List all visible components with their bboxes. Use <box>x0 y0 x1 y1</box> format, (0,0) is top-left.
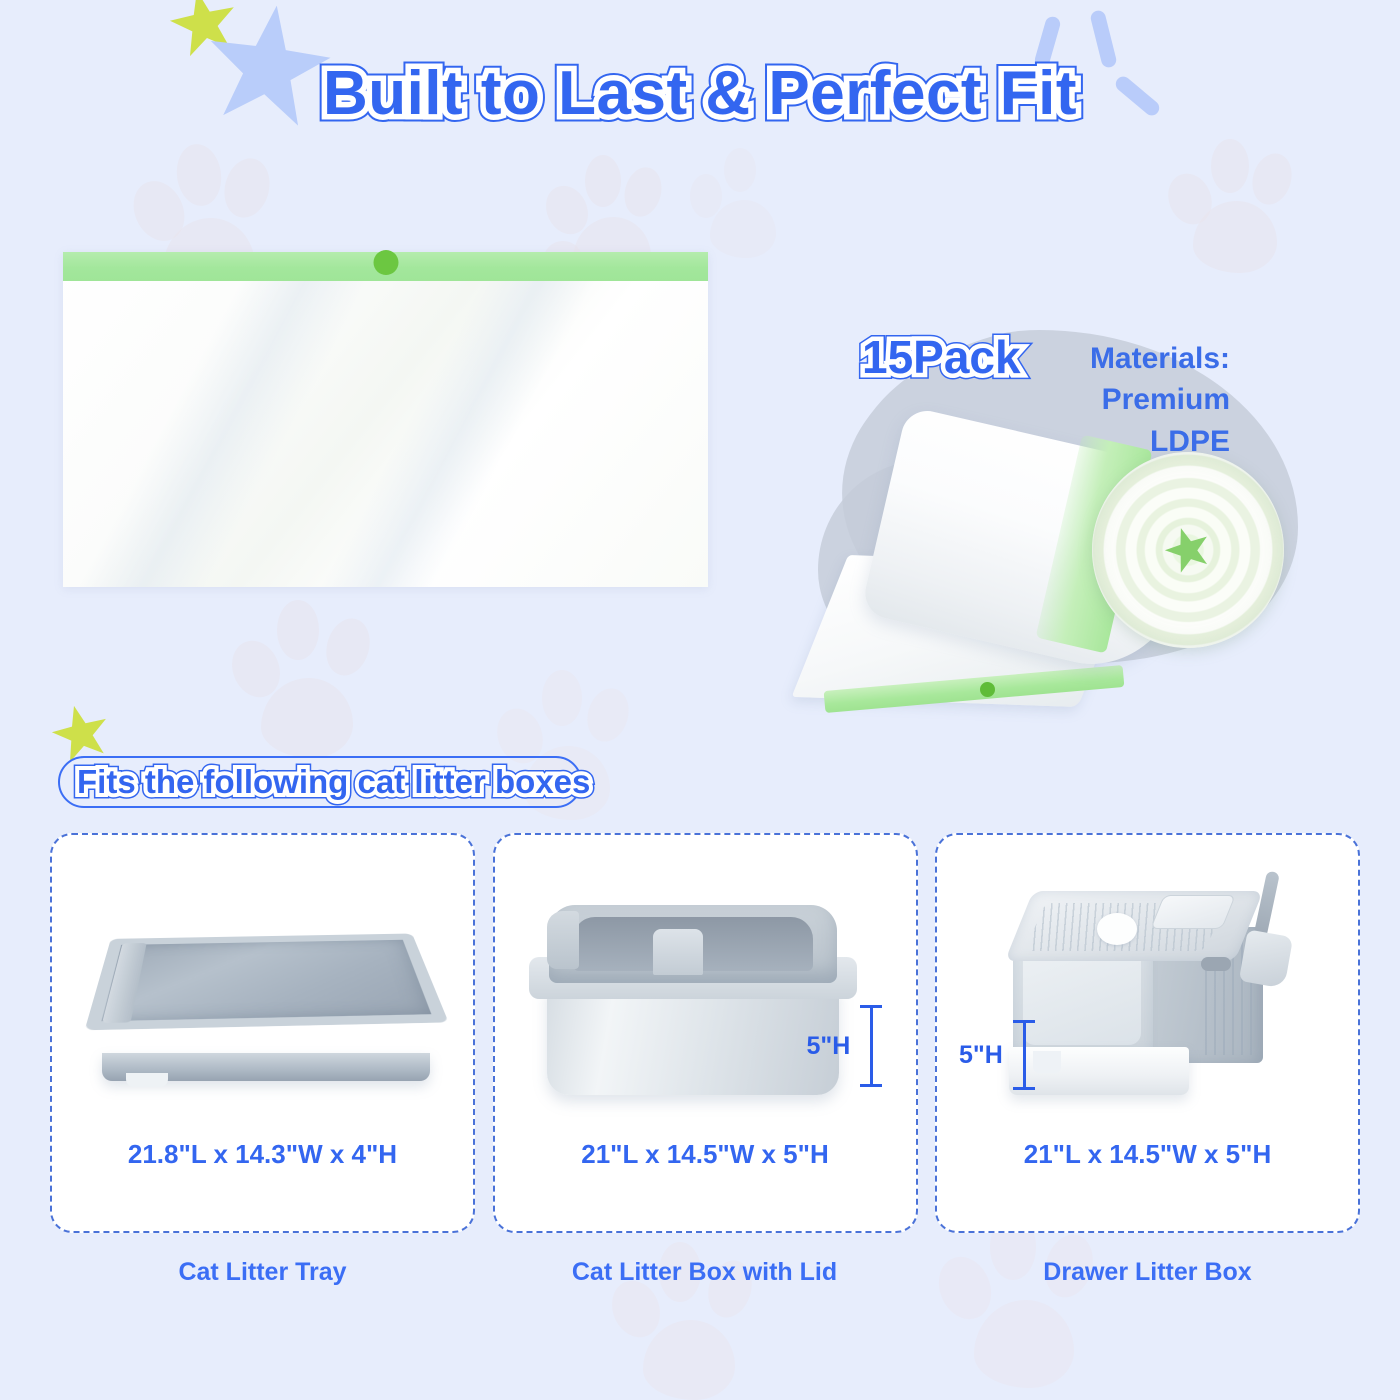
tray-body <box>85 933 449 1030</box>
height-dimension-label: 5"H <box>807 1032 851 1061</box>
litter-box-divider <box>653 929 703 975</box>
dimension-cap-bottom <box>860 1084 882 1087</box>
drawer-box-door <box>1023 949 1141 1045</box>
drawer-litter-box-figure: 5"H <box>937 835 1358 1135</box>
roll-spiral-face <box>1092 452 1284 648</box>
product-card-list: 21.8"L x 14.3"W x 4"H 5"H <box>50 833 1360 1233</box>
litter-scoop-head <box>1239 929 1293 988</box>
bag-sheen <box>63 281 708 587</box>
caption-cat-litter-box-with-lid: Cat Litter Box with Lid <box>492 1258 917 1287</box>
dimension-cap-bottom <box>1013 1087 1035 1090</box>
product-card-cat-litter-tray[interactable]: 21.8"L x 14.3"W x 4"H <box>50 833 475 1233</box>
caption-cat-litter-tray: Cat Litter Tray <box>50 1258 475 1287</box>
star-decoration-green <box>164 0 245 64</box>
drawer-box-drawer-notch <box>1033 1051 1061 1073</box>
materials-line-3: LDPE <box>1020 421 1230 462</box>
materials-info: Materials: Premium LDPE <box>1020 338 1230 462</box>
litter-liner-bag-image <box>63 252 708 587</box>
roll-core-star <box>1159 521 1217 579</box>
dimension-stem <box>870 1005 873 1087</box>
cat-litter-tray-dimensions: 21.8"L x 14.3"W x 4"H <box>128 1139 397 1170</box>
page-title: Built to Last & Perfect Fit <box>0 58 1400 129</box>
materials-line-1: Materials: <box>1020 338 1230 379</box>
cat-litter-box-with-lid-figure: 5"H <box>495 835 916 1135</box>
cat-litter-tray-figure <box>52 835 473 1135</box>
litter-box-base <box>547 983 839 1095</box>
pack-count-badge: 15Pack <box>862 330 1021 384</box>
section-label: Fits the following cat litter boxes <box>60 754 607 810</box>
tray-foot-notch <box>126 1073 168 1087</box>
height-dimension-label: 5"H <box>959 1041 1003 1070</box>
dimension-stem <box>1023 1020 1026 1090</box>
drawer-litter-box-dimensions: 21"L x 14.5"W x 5"H <box>1024 1139 1272 1170</box>
height-dimension-bar <box>1013 1020 1035 1090</box>
materials-line-2: Premium <box>1020 379 1230 420</box>
paw-print-watermark <box>215 588 385 758</box>
product-card-drawer-litter-box[interactable]: 5"H 21"L x 14.5"W x 5"H <box>935 833 1360 1233</box>
product-infographic-page: Built to Last & Perfect Fit Built to Las… <box>0 0 1400 1400</box>
bag-drawstring-tab <box>373 250 398 275</box>
caption-drawer-litter-box: Drawer Litter Box <box>935 1258 1360 1287</box>
drawer-box-top-hatch <box>1150 895 1236 929</box>
drawer-box-side-handle <box>1201 957 1231 971</box>
height-dimension-marker-left: 5"H <box>959 1020 1035 1090</box>
paw-print-watermark <box>1155 125 1305 275</box>
height-dimension-bar <box>860 1005 882 1087</box>
litter-box-corner-flap <box>547 911 579 969</box>
drawer-box-knob <box>1097 913 1137 945</box>
bag-drawstring-band <box>63 252 708 281</box>
product-card-cat-litter-box-with-lid[interactable]: 5"H 21"L x 14.5"W x 5"H <box>493 833 918 1233</box>
cat-litter-box-with-lid-dimensions: 21"L x 14.5"W x 5"H <box>581 1139 829 1170</box>
paw-print-watermark <box>680 140 800 260</box>
height-dimension-marker-right: 5"H <box>807 1005 883 1087</box>
paw-print-watermark <box>595 1230 765 1400</box>
drawer-box-body <box>1005 865 1305 1115</box>
